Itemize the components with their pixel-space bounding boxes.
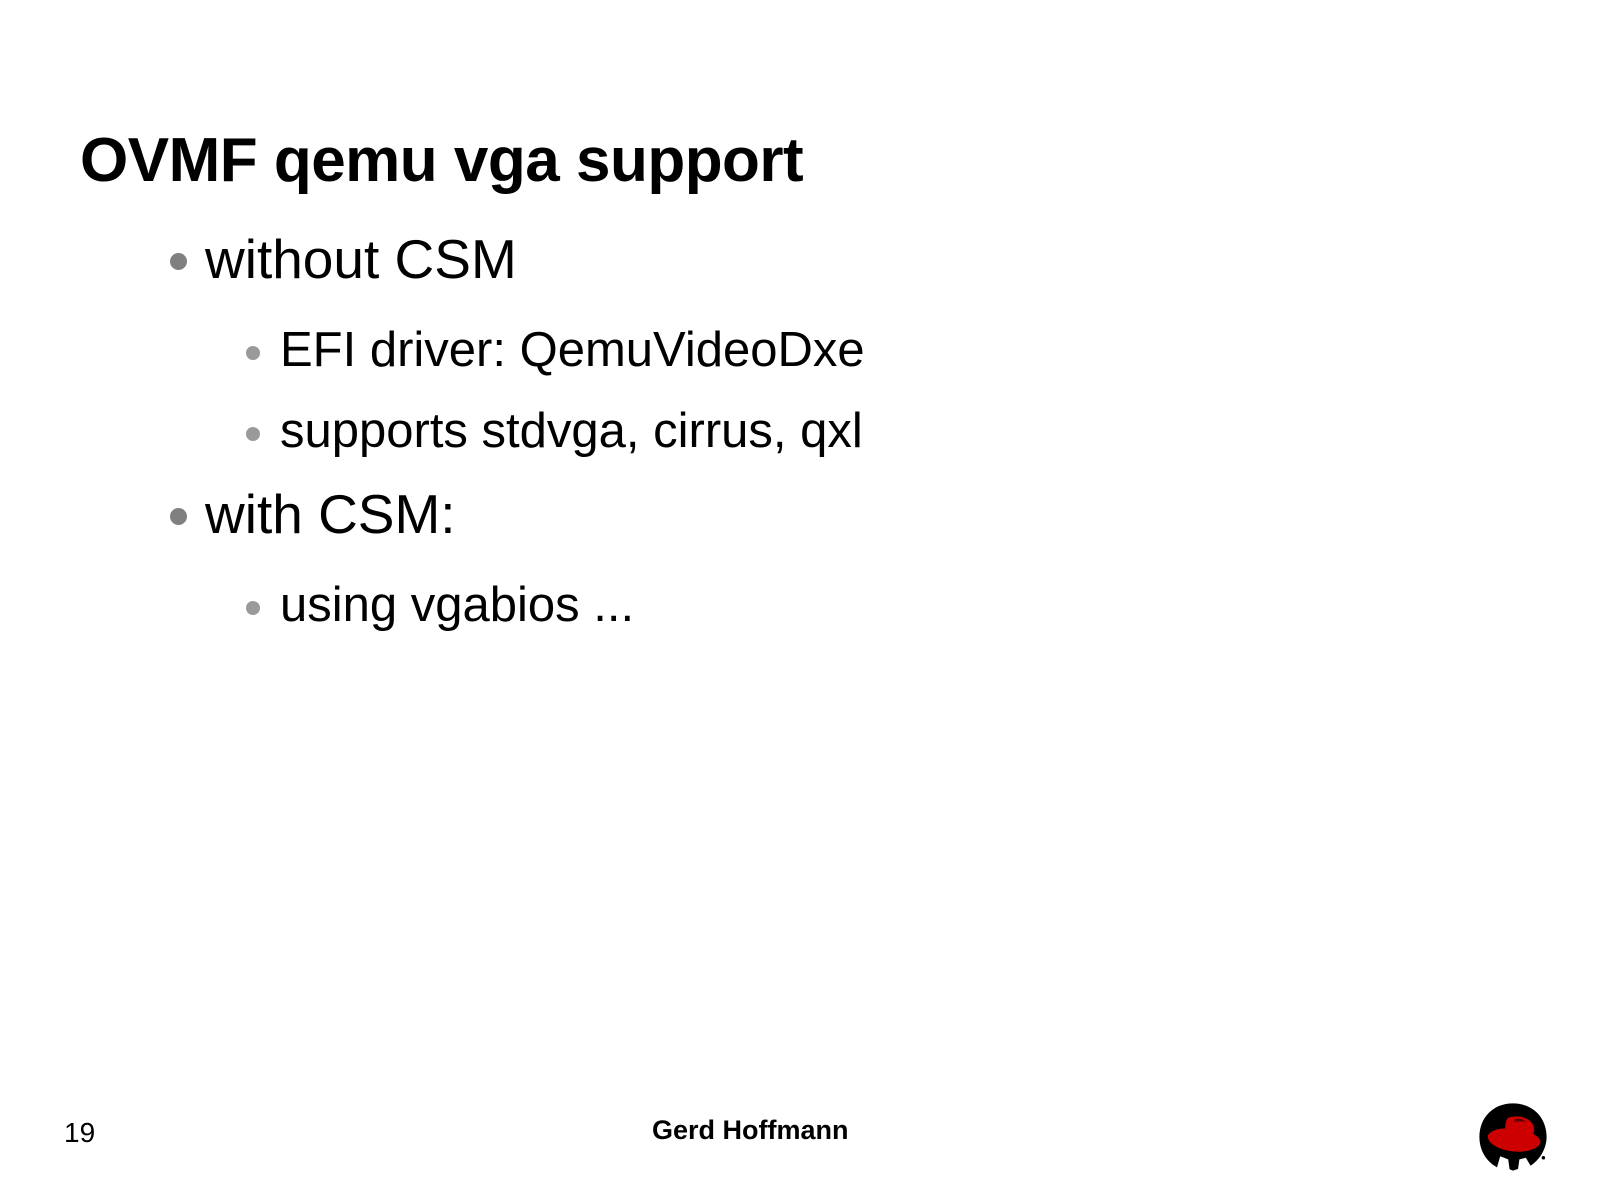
red-hat-shadowman-icon: [1473, 1097, 1553, 1177]
list-item: without CSM: [0, 228, 1599, 311]
bullet-dot-icon: [246, 601, 260, 615]
presentation-slide: OVMF qemu vga support without CSM EFI dr…: [0, 0, 1599, 1199]
page-number: 19: [64, 1117, 95, 1149]
page-title: OVMF qemu vga support: [80, 128, 1500, 193]
bullet-dot-icon: [170, 253, 187, 270]
list-item-label: using vgabios ...: [280, 576, 634, 634]
bullet-dot-icon: [170, 508, 187, 525]
bullet-dot-icon: [246, 346, 260, 360]
list-item-label: without CSM: [205, 228, 517, 290]
author-name: Gerd Hoffmann: [652, 1115, 812, 1146]
list-item: with CSM:: [0, 483, 1599, 566]
list-item: EFI driver: QemuVideoDxe: [0, 321, 1599, 402]
list-item-label: EFI driver: QemuVideoDxe: [280, 321, 865, 379]
slide-body: without CSM EFI driver: QemuVideoDxe sup…: [0, 228, 1599, 657]
list-item-label: with CSM:: [205, 483, 456, 545]
list-item-label: supports stdvga, cirrus, qxl: [280, 402, 863, 460]
slide-footer: 19 Gerd Hoffmann: [0, 1079, 1599, 1199]
bullet-dot-icon: [246, 427, 260, 441]
list-item: supports stdvga, cirrus, qxl: [0, 402, 1599, 483]
list-item: using vgabios ...: [0, 576, 1599, 657]
